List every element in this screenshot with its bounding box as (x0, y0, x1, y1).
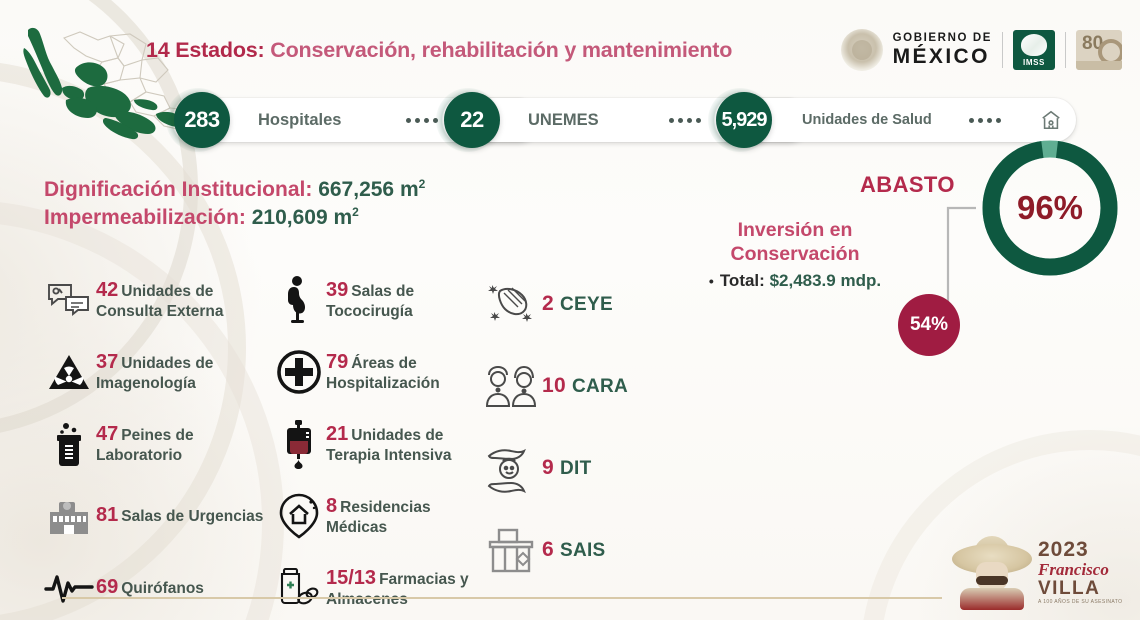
stat-number: 9 (542, 456, 554, 479)
stat-pill-value-unemes: 22 (444, 92, 500, 148)
investment-heading-line1: Inversión en (650, 218, 940, 242)
medical-cross-circle-icon (272, 346, 326, 398)
investment-block: Inversión en Conservación •Total: $2,483… (650, 218, 940, 291)
stat-number: 69 (96, 576, 118, 598)
stat-item: 8Residencias Médicas (272, 488, 480, 544)
stats-column-1: 42Unidades de Consulta Externa 37Unidade… (42, 272, 272, 620)
two-staff-people-icon (480, 360, 542, 412)
stat-number: 8 (326, 495, 337, 517)
consultation-chat-icon (42, 274, 96, 326)
stat-label: 10CARA (542, 374, 628, 399)
stat-label: 15/13Farmacias y Almacenes (326, 567, 480, 609)
investment-total: •Total: $2,483.9 mdp. (650, 271, 940, 291)
stat-pill-value-hospitales: 283 (174, 92, 230, 148)
bullet-icon: • (709, 273, 714, 289)
bottom-divider (62, 597, 942, 599)
stat-number: 42 (96, 279, 118, 301)
iv-blood-bag-icon (272, 418, 326, 470)
impermeabilizacion-unit: 2 (352, 205, 359, 219)
stat-label: 8Residencias Médicas (326, 495, 480, 537)
stat-label: 6SAIS (542, 538, 606, 563)
imss-eagle-icon (1021, 34, 1047, 56)
radiation-warning-icon (42, 346, 96, 398)
dignificacion-line: Dignificación Institucional: 667,256 m2 (44, 176, 425, 204)
slide-root: 14 Estados: Conservación, rehabilitación… (0, 0, 1140, 620)
dignificacion-block: Dignificación Institucional: 667,256 m2 … (44, 176, 425, 231)
anniversary-band (1076, 61, 1122, 70)
imss-logo: IMSS (1013, 30, 1055, 70)
stat-pill-label: UNEMES (528, 111, 599, 130)
stat-pill-label: Hospitales (258, 111, 341, 130)
imss-80-anniversary-logo: 80 (1076, 30, 1122, 70)
stat-number: 6 (542, 538, 554, 561)
stat-number: 21 (326, 423, 348, 445)
stat-number: 47 (96, 423, 118, 445)
stat-label: 42Unidades de Consulta Externa (96, 279, 272, 321)
stat-item: 47Peines de Laboratorio (42, 416, 272, 472)
sterilization-gloves-icon (480, 278, 542, 330)
hands-holding-baby-icon (480, 442, 542, 494)
stat-label: 2CEYE (542, 292, 613, 317)
stat-label: 39Salas de Tococirugía (326, 279, 480, 321)
stat-label: 81Salas de Urgencias (96, 504, 263, 528)
stat-number: 10 (542, 374, 566, 397)
logo-divider (1065, 32, 1066, 68)
investment-heading-line2: Conservación (650, 242, 940, 266)
gobierno-de-mexico-wordmark: GOBIERNO DE MÉXICO (893, 33, 992, 67)
villa-subtitle: A 100 AÑOS DE SU ASESINATO (1038, 600, 1122, 605)
villa-year: 2023 (1038, 539, 1122, 560)
page-title-rest: Conservación, rehabilitación y mantenimi… (265, 38, 733, 62)
gobierno-line2: MÉXICO (893, 46, 992, 67)
stat-label: 79Áreas de Hospitalización (326, 351, 480, 393)
impermeabilizacion-value: 210,609 m (252, 206, 352, 229)
abasto-donut-chart: 96% (976, 134, 1124, 282)
mexican-eagle-seal-icon (841, 29, 883, 71)
stat-label: 21Unidades de Terapia Intensiva (326, 423, 480, 465)
investment-total-value: $2,483.9 mdp. (770, 271, 882, 290)
heartbeat-line-icon (42, 562, 96, 614)
stat-item: 42Unidades de Consulta Externa (42, 272, 272, 328)
stat-item: 79Áreas de Hospitalización (272, 344, 480, 400)
stats-column-3: 2CEYE 10CARA 9DIT 6SAIS (480, 272, 680, 600)
stat-item: 21Unidades de Terapia Intensiva (272, 416, 480, 472)
villa-wordmark: 2023 Francisco VILLA A 100 AÑOS DE SU AS… (1038, 539, 1122, 605)
abasto-donut-value: 96% (976, 134, 1124, 282)
abasto-badge-value: 54% (910, 314, 948, 336)
stat-item: 37Unidades de Imagenología (42, 344, 272, 400)
logo-divider (1002, 32, 1003, 68)
investment-total-label: Total: (720, 271, 765, 290)
villa-last-name: VILLA (1038, 579, 1122, 598)
stat-label: 37Unidades de Imagenología (96, 351, 272, 393)
stat-item: 6SAIS (480, 518, 680, 582)
dignificacion-unit: 2 (419, 177, 426, 191)
stats-column-2: 39Salas de Tococirugía 79Áreas de Hospit… (272, 272, 480, 620)
stat-number: 81 (96, 504, 118, 526)
imss-label: IMSS (1023, 58, 1045, 67)
stat-number: 39 (326, 279, 348, 301)
dignificacion-value: 667,256 m (318, 178, 418, 201)
page-title-lead: 14 Estados: (146, 38, 265, 62)
gobierno-line1: GOBIERNO DE (893, 33, 992, 45)
stat-pill-label: Unidades de Salud (802, 112, 932, 128)
stat-number: 2 (542, 292, 554, 315)
stat-label: 9DIT (542, 456, 592, 481)
house-pin-icon (272, 490, 326, 542)
stat-item: 10CARA (480, 354, 680, 418)
stat-item: 15/13Farmacias y Almacenes (272, 560, 480, 616)
stat-number: 37 (96, 351, 118, 373)
stat-label: 47Peines de Laboratorio (96, 423, 272, 465)
clinic-house-icon (1038, 107, 1064, 133)
pregnant-woman-icon (272, 274, 326, 326)
villa-first-name: Francisco (1038, 561, 1122, 578)
stat-number: 79 (326, 351, 348, 373)
medicine-bottle-pills-icon (272, 562, 326, 614)
pill-dots (406, 118, 438, 123)
stat-item: 81Salas de Urgencias (42, 488, 272, 544)
lab-beaker-icon (42, 418, 96, 470)
stat-number: 15/13 (326, 567, 376, 589)
francisco-villa-2023-logo: 2023 Francisco VILLA A 100 AÑOS DE SU AS… (950, 530, 1126, 614)
stat-pill-value-unidades-salud: 5,929 (716, 92, 772, 148)
pharmacy-counter-icon (480, 524, 542, 576)
abasto-label: ABASTO (860, 172, 955, 198)
government-logos: GOBIERNO DE MÉXICO IMSS 80 (841, 26, 1122, 74)
pill-dots (669, 118, 701, 123)
stat-item: 9DIT (480, 436, 680, 500)
page-title: 14 Estados: Conservación, rehabilitación… (146, 38, 732, 63)
villa-portrait-icon (950, 532, 1034, 612)
pill-dots (969, 118, 1001, 123)
stat-item: 69Quirófanos (42, 560, 272, 616)
emergency-room-icon (42, 490, 96, 542)
abasto-secondary-badge: 54% (898, 294, 960, 356)
dignificacion-label: Dignificación Institucional: (44, 178, 312, 201)
impermeabilizacion-line: Impermeabilización: 210,609 m2 (44, 204, 425, 232)
stat-item: 39Salas de Tococirugía (272, 272, 480, 328)
impermeabilizacion-label: Impermeabilización: (44, 206, 246, 229)
